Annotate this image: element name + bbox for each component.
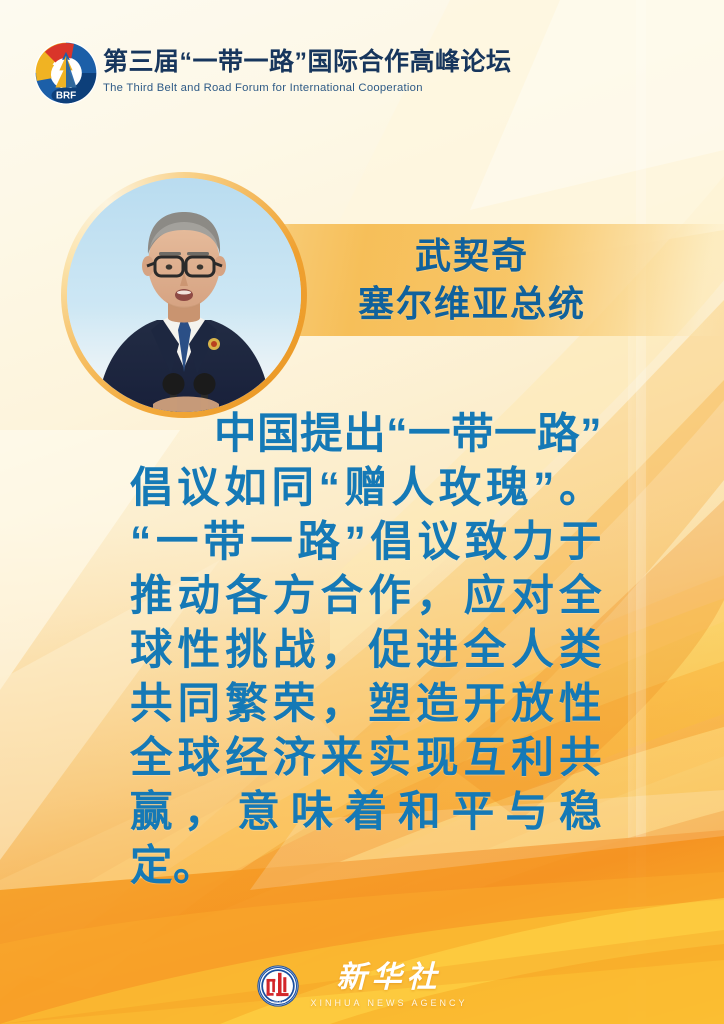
- xinhua-text-block: 新华社 XINHUA NEWS AGENCY: [310, 963, 467, 1008]
- quote-body: 中国提出“一带一路”倡议如同“赠人玫瑰”。“一带一路”倡议致力于推动各方合作，应…: [130, 411, 602, 890]
- brf-acronym: BRF: [56, 91, 76, 102]
- brf-logo: BRF: [33, 40, 99, 106]
- speaker-title: 塞尔维亚总统: [262, 280, 682, 328]
- svg-text:XINHUA: XINHUA: [271, 999, 286, 1004]
- speaker-portrait: [61, 172, 307, 418]
- footer: XINHUA 新华社 XINHUA NEWS AGENCY: [0, 924, 724, 1024]
- portrait-photo: [67, 178, 301, 412]
- header: BRF 第三届“一带一路”国际合作高峰论坛 The Third Belt and…: [0, 0, 724, 130]
- forum-title-en: The Third Belt and Road Forum for Intern…: [103, 82, 512, 94]
- forum-title-cn: 第三届“一带一路”国际合作高峰论坛: [103, 48, 512, 77]
- forum-title-block: 第三届“一带一路”国际合作高峰论坛 The Third Belt and Roa…: [103, 48, 512, 94]
- xinhua-name-cn: 新华社: [337, 963, 442, 993]
- speaker-name-block: 武契奇 塞尔维亚总统: [262, 232, 682, 327]
- xinhua-name-en: XINHUA NEWS AGENCY: [310, 998, 467, 1008]
- speaker-name: 武契奇: [262, 232, 682, 280]
- xinhua-logo: XINHUA 新华社 XINHUA NEWS AGENCY: [0, 963, 724, 1008]
- poster-root: BRF 第三届“一带一路”国际合作高峰论坛 The Third Belt and…: [0, 0, 724, 1024]
- quote-text: 中国提出“一带一路”倡议如同“赠人玫瑰”。“一带一路”倡议致力于推动各方合作，应…: [130, 408, 602, 894]
- xinhua-emblem-icon: XINHUA: [256, 964, 300, 1008]
